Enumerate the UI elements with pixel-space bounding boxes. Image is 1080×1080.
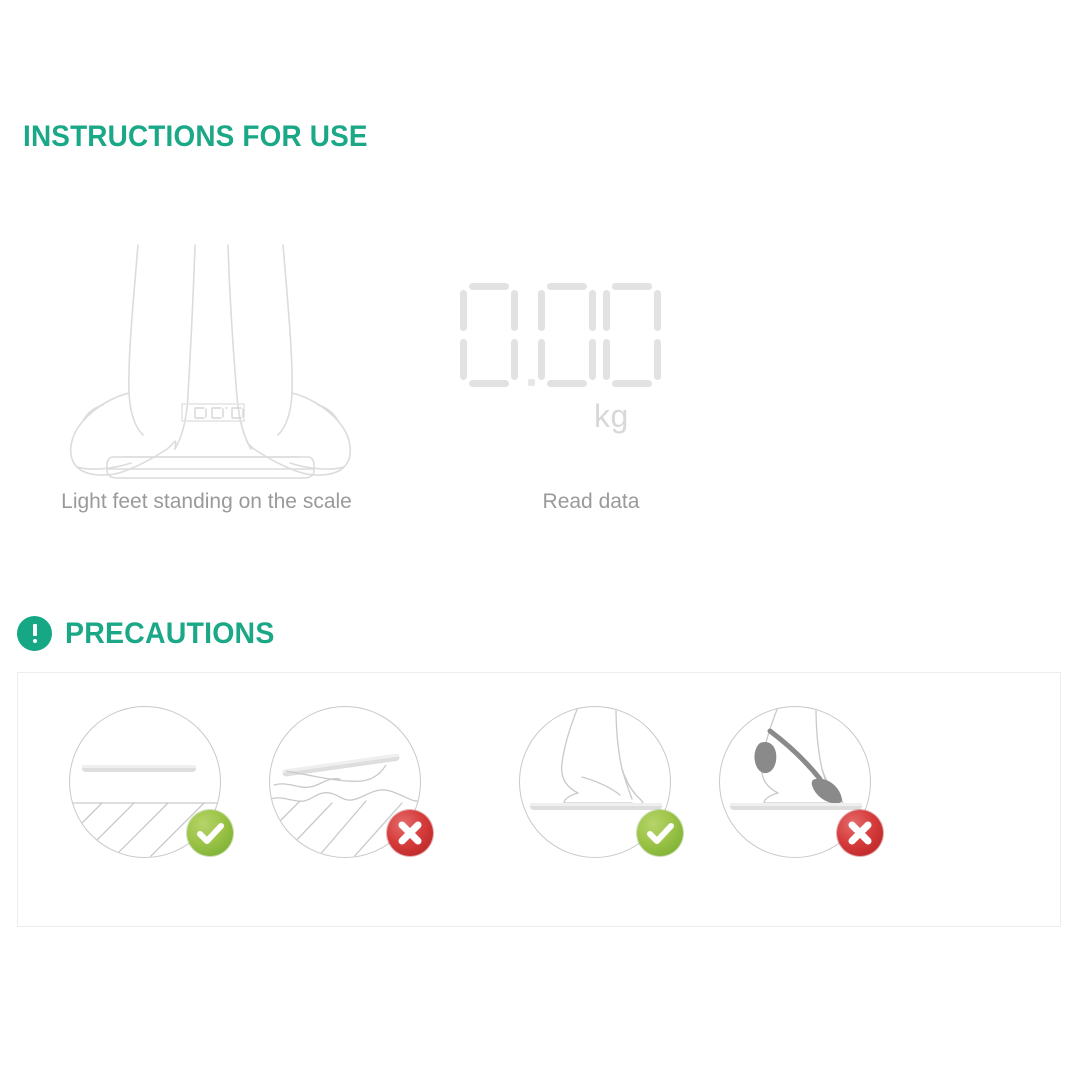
lcd-decimal-point (528, 379, 535, 386)
precaution-item-uneven-floor (269, 706, 421, 858)
feet-on-scale-illustration (25, 235, 388, 485)
lcd-digit-1 (460, 283, 518, 387)
step-2-caption: Read data (430, 490, 752, 514)
check-circle-icon (187, 810, 233, 856)
exclamation-circle-icon (17, 616, 52, 651)
lcd-unit-label: kg (594, 398, 629, 435)
lcd-digit-3 (603, 283, 661, 387)
precaution-item-socked-foot (719, 706, 871, 858)
precaution-item-hard-floor (69, 706, 221, 858)
precaution-item-bare-foot (519, 706, 671, 858)
precautions-header: PRECAUTIONS (17, 616, 286, 651)
check-circle-icon (637, 810, 683, 856)
cross-circle-icon (837, 810, 883, 856)
precautions-panel (17, 672, 1061, 927)
step-1-caption: Light feet standing on the scale (25, 490, 388, 514)
lcd-digit-2 (538, 283, 596, 387)
lcd-display-illustration: kg (430, 235, 752, 485)
precautions-title: PRECAUTIONS (65, 617, 275, 651)
instruction-steps: Light feet standing on the scale (0, 235, 1080, 535)
cross-circle-icon (387, 810, 433, 856)
instructions-for-use-title: INSTRUCTIONS FOR USE (23, 120, 368, 154)
instruction-step-2: kg Read data (430, 235, 752, 485)
lcd-display: kg (460, 283, 720, 393)
instruction-step-1: Light feet standing on the scale (25, 235, 388, 485)
